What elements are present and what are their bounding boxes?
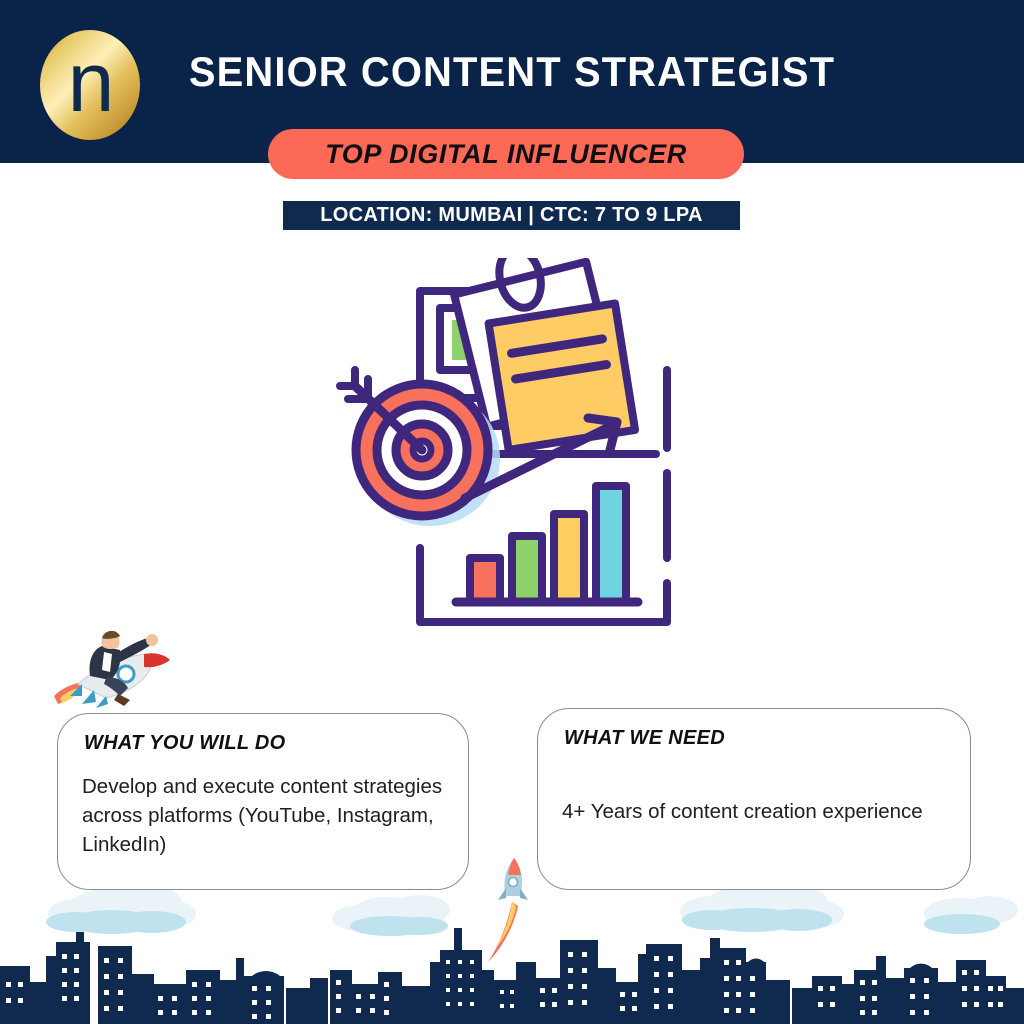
page-title: SENIOR CONTENT STRATEGIST <box>26 48 999 96</box>
bar-1 <box>470 558 500 602</box>
status-badge: TOP DIGITAL INFLUENCER <box>268 129 744 179</box>
job-poster: n SENIOR CONTENT STRATEGIST TOP DIGITAL … <box>0 0 1024 1024</box>
buildings <box>0 928 1024 1024</box>
city-skyline-silhouette <box>0 884 1024 1024</box>
status-badge-label: TOP DIGITAL INFLUENCER <box>325 139 687 170</box>
bar-2 <box>512 536 542 602</box>
content-strategy-illustration <box>320 258 710 648</box>
bar-4 <box>596 486 626 602</box>
card-body: 4+ Years of content creation experience <box>562 797 954 826</box>
card-title: WHAT WE NEED <box>564 727 725 750</box>
card-title: WHAT YOU WILL DO <box>84 732 285 755</box>
bar-3 <box>554 514 584 602</box>
card-what-you-will-do: WHAT YOU WILL DO Develop and execute con… <box>57 713 469 890</box>
location-ctc-strip: LOCATION: MUMBAI | CTC: 7 TO 9 LPA <box>283 201 740 230</box>
location-ctc-label: LOCATION: MUMBAI | CTC: 7 TO 9 LPA <box>320 204 702 227</box>
card-body: Develop and execute content strategies a… <box>82 772 452 859</box>
card-what-we-need: WHAT WE NEED 4+ Years of content creatio… <box>537 708 971 890</box>
businessman-on-rocket-icon <box>48 612 180 717</box>
